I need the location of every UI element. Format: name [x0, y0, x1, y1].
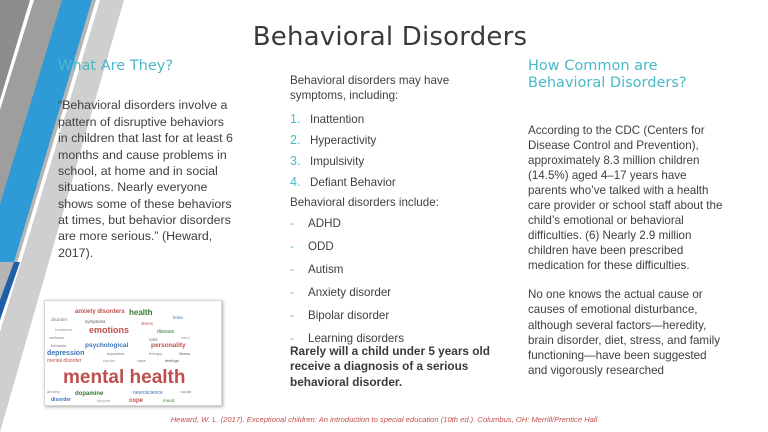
svg-text:illness: illness [179, 351, 190, 356]
svg-text:stress: stress [141, 321, 154, 326]
list-item: 2. Hyperactivity [290, 133, 495, 147]
svg-text:brain: brain [173, 315, 184, 320]
svg-text:anxiety disorders: anxiety disorders [75, 309, 125, 315]
list-item: 4. Defiant Behavior [290, 175, 495, 189]
list-marker: 4. [290, 175, 310, 189]
list-item-label: Defiant Behavior [310, 176, 396, 189]
column-left: What Are They? “Behavioral disorders inv… [58, 58, 233, 261]
list-item-label: Bipolar disorder [308, 309, 389, 322]
dash-marker: - [290, 262, 308, 276]
disorders-dash-list: - ADHD - ODD - Autism - Anxiety disorder… [290, 216, 495, 345]
middle-bold-note: Rarely will a child under 5 years old re… [290, 344, 490, 390]
wordcloud-image: anxiety disorders health disorder sympto… [44, 300, 222, 406]
list-marker: 3. [290, 154, 310, 168]
svg-text:mood: mood [163, 398, 175, 403]
svg-text:cope: cope [137, 358, 146, 363]
list-item: 1. Inattention [290, 112, 495, 126]
list-item-label: ODD [308, 240, 334, 253]
dash-marker: - [290, 285, 308, 299]
svg-text:treatment: treatment [55, 327, 73, 332]
list-item-label: Anxiety disorder [308, 286, 391, 299]
list-item-label: Hyperactivity [310, 134, 376, 147]
dash-marker: - [290, 216, 308, 230]
svg-text:cope: cope [129, 398, 144, 404]
footer-citation: Heward, W. L. (2017). Exceptional childr… [0, 415, 768, 424]
list-item-label: Autism [308, 263, 343, 276]
svg-text:wellness: wellness [49, 335, 64, 340]
svg-text:psychological: psychological [85, 342, 129, 349]
list-item-label: Impulsivity [310, 155, 364, 168]
symptoms-numbered-list: 1. Inattention 2. Hyperactivity 3. Impul… [290, 112, 495, 189]
list-marker: 2. [290, 133, 310, 147]
svg-text:dopamine: dopamine [107, 351, 125, 356]
list-item: - ADHD [290, 216, 495, 230]
dash-marker: - [290, 239, 308, 253]
svg-text:neuroscience: neuroscience [133, 390, 163, 396]
right-column-heading: How Common are Behavioral Disorders? [528, 58, 724, 93]
dash-marker: - [290, 308, 308, 322]
middle-sub-intro-text: Behavioral disorders include: [290, 196, 495, 211]
list-item: - Bipolar disorder [290, 308, 495, 322]
svg-text:anxiety: anxiety [47, 389, 60, 394]
left-column-heading: What Are They? [58, 58, 233, 75]
page-title: Behavioral Disorders [180, 22, 600, 52]
svg-text:feelings: feelings [165, 358, 179, 363]
svg-text:disease: disease [157, 329, 174, 335]
right-column-paragraph-1: According to the CDC (Centers for Diseas… [528, 123, 724, 274]
svg-text:disorder: disorder [51, 317, 68, 322]
list-item: 3. Impulsivity [290, 154, 495, 168]
column-right: How Common are Behavioral Disorders? Acc… [528, 58, 724, 378]
svg-text:dopamine: dopamine [75, 391, 104, 397]
list-item-label: ADHD [308, 217, 341, 230]
svg-text:mental disorder: mental disorder [47, 358, 82, 364]
svg-text:symptoms: symptoms [85, 319, 106, 324]
svg-text:mental health: mental health [63, 367, 185, 388]
svg-text:disorder: disorder [51, 397, 71, 403]
svg-text:emotions: emotions [89, 325, 129, 335]
left-column-quote: “Behavioral disorders involve a pattern … [58, 97, 233, 261]
svg-text:depression: depression [47, 350, 84, 357]
list-marker: 1. [290, 112, 310, 126]
right-column-paragraph-2: No one knows the actual cause or causes … [528, 287, 724, 377]
list-item: - Autism [290, 262, 495, 276]
svg-text:bipolar: bipolar [103, 358, 116, 363]
svg-text:personality: personality [151, 342, 186, 349]
list-item: - ODD [290, 239, 495, 253]
svg-text:behavior: behavior [51, 343, 67, 348]
list-item-label: Inattention [310, 113, 364, 126]
svg-text:mind: mind [181, 335, 190, 340]
list-item: - Anxiety disorder [290, 285, 495, 299]
middle-intro-text: Behavioral disorders may have symptoms, … [290, 74, 495, 104]
svg-text:therapy: therapy [149, 351, 162, 356]
column-middle: Behavioral disorders may have symptoms, … [290, 74, 495, 354]
svg-text:social: social [181, 389, 191, 394]
svg-text:support: support [97, 398, 111, 403]
svg-text:health: health [129, 308, 153, 317]
